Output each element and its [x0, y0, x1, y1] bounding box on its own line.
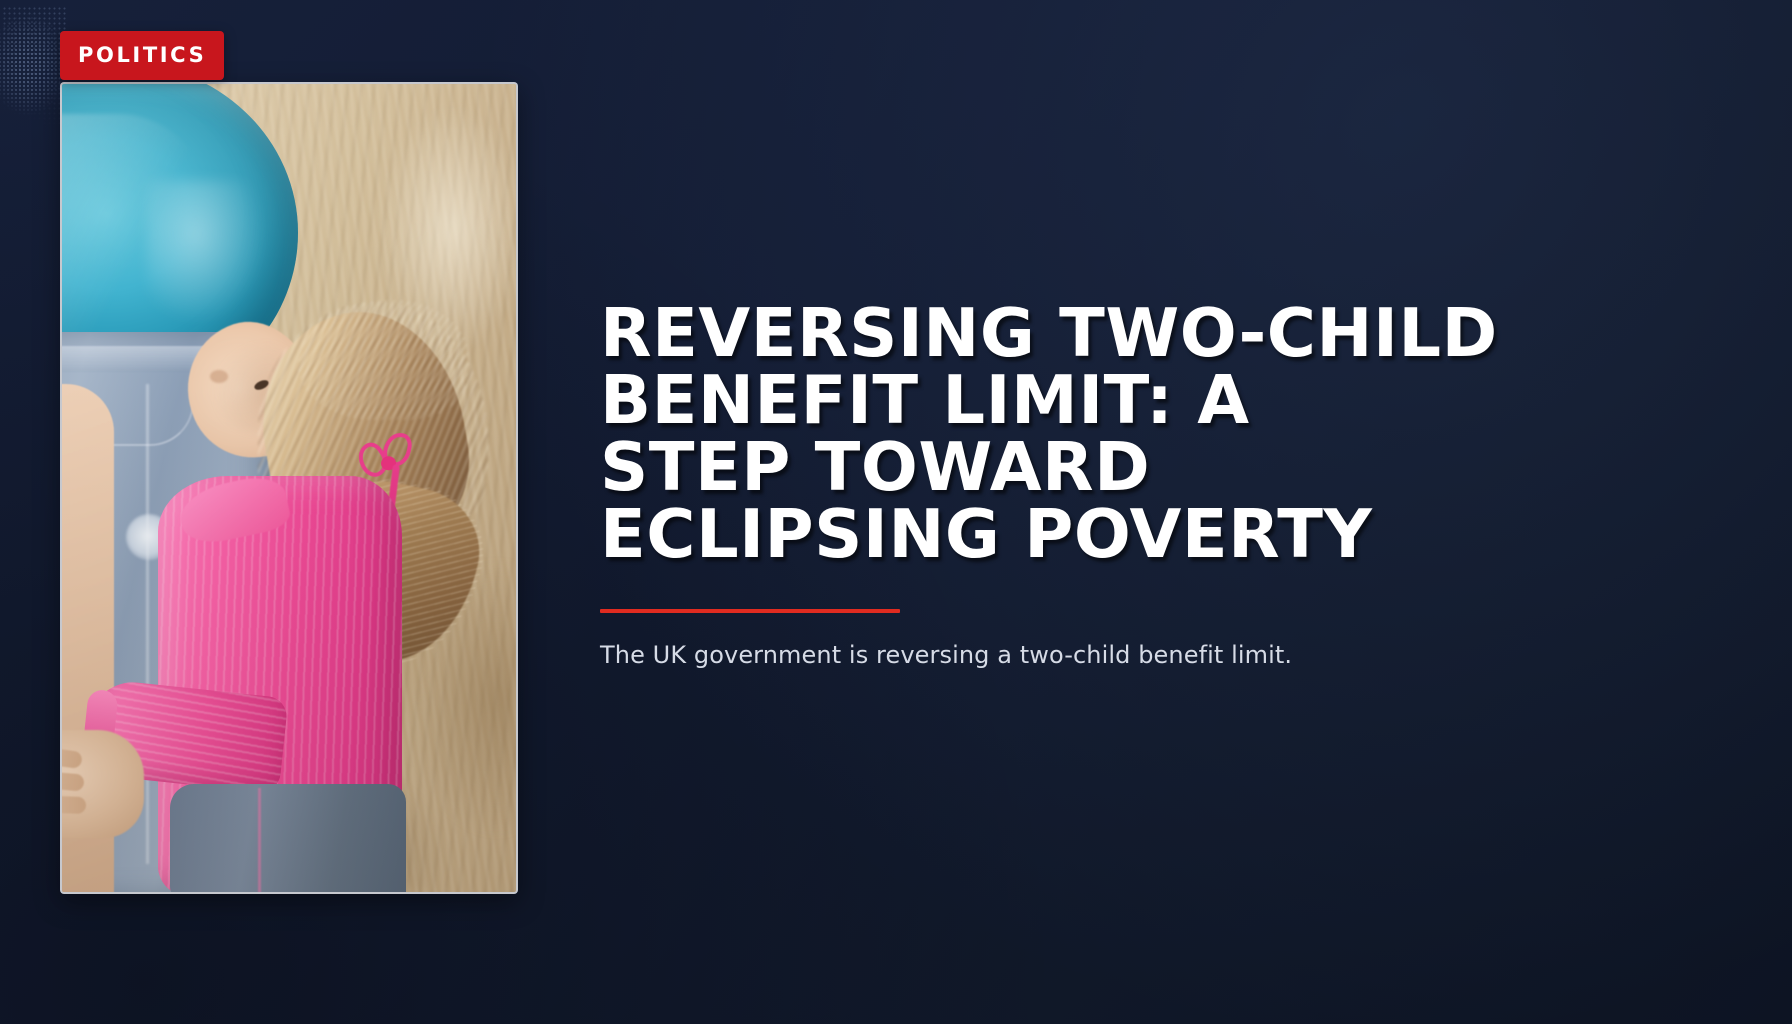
jeans-seam — [146, 384, 149, 864]
article-photo — [60, 82, 518, 894]
headline-line: BENEFIT LIMIT: A — [600, 367, 1390, 434]
photo-illustration — [62, 84, 516, 892]
headline-line: STEP TOWARD — [600, 434, 1390, 501]
girl-nose — [210, 370, 228, 383]
halftone-dots-secondary-icon — [2, 6, 68, 124]
news-card-canvas: POLITICS REVERSING TWO-CHILD BENEFIT LIM… — [0, 0, 1792, 1024]
headline-line: ECLIPSING POVERTY — [600, 501, 1390, 568]
category-badge[interactable]: POLITICS — [60, 31, 224, 80]
girl-jeans-seam — [258, 788, 261, 892]
belly-highlight — [146, 180, 270, 330]
subtitle: The UK government is reversing a two-chi… — [600, 639, 1720, 671]
article-text-block: REVERSING TWO-CHILD BENEFIT LIMIT: A STE… — [600, 300, 1720, 671]
headline-line: REVERSING TWO-CHILD — [600, 300, 1390, 367]
woman-finger — [62, 795, 86, 814]
girl-jeans — [170, 784, 406, 892]
headline: REVERSING TWO-CHILD BENEFIT LIMIT: A STE… — [600, 300, 1390, 568]
category-badge-label: POLITICS — [78, 45, 206, 66]
accent-divider — [600, 609, 900, 613]
